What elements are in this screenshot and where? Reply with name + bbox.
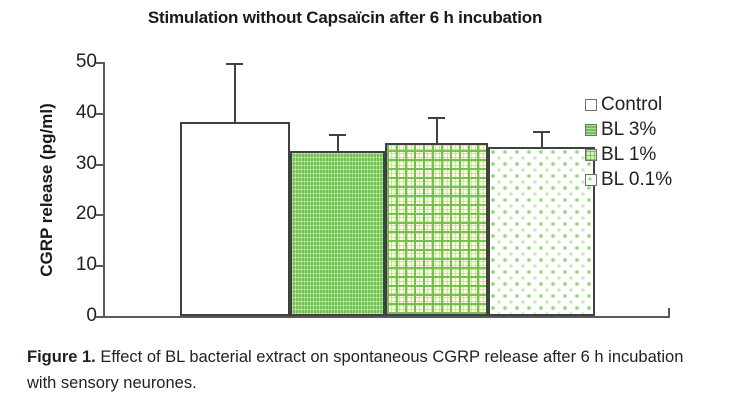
y-tick-label: 10 — [57, 254, 97, 276]
legend-item-bl-3: BL 3% — [585, 117, 745, 142]
y-tick-mark — [96, 316, 103, 318]
y-axis-line — [103, 62, 105, 318]
y-tick-label: 20 — [57, 203, 97, 225]
legend-swatch-icon — [585, 99, 597, 111]
bar-control — [180, 122, 290, 316]
y-tick-label: 30 — [57, 153, 97, 175]
legend-label: BL 3% — [601, 120, 656, 139]
legend-swatch-icon — [585, 149, 597, 161]
error-bar-cap — [428, 117, 445, 119]
legend: ControlBL 3%BL 1%BL 0.1% — [585, 92, 745, 192]
bar-bl-1 — [385, 143, 488, 316]
y-tick-label: 40 — [57, 102, 97, 124]
error-bar-cap — [226, 63, 243, 65]
legend-swatch-icon — [585, 174, 597, 186]
y-tick-mark — [96, 164, 103, 166]
y-tick-label: 0 — [57, 305, 97, 327]
error-bar-cap — [533, 131, 550, 133]
legend-item-bl-0-1: BL 0.1% — [585, 167, 745, 192]
error-bar-line — [436, 117, 438, 143]
legend-label: BL 0.1% — [601, 170, 672, 189]
y-tick-label: 50 — [57, 51, 97, 73]
figure-plot: CGRP release (pg/ml) 01020304050 Control… — [0, 0, 751, 335]
error-bar-cap — [329, 134, 346, 136]
error-bar-line — [234, 63, 236, 122]
y-tick-mark — [96, 113, 103, 115]
bar-bl-3 — [290, 151, 385, 316]
legend-label: BL 1% — [601, 145, 656, 164]
y-tick-mark — [96, 214, 103, 216]
y-axis-title: CGRP release (pg/ml) — [37, 50, 57, 330]
figure-caption: Figure 1. Effect of BL bacterial extract… — [27, 344, 695, 396]
caption-text: Effect of BL bacterial extract on sponta… — [27, 348, 683, 392]
legend-item-bl-1: BL 1% — [585, 142, 745, 167]
y-tick-mark — [96, 62, 103, 64]
legend-item-control: Control — [585, 92, 745, 117]
error-bar-line — [337, 134, 339, 151]
x-axis-line — [103, 316, 670, 318]
legend-swatch-icon — [585, 124, 597, 136]
error-bar-line — [541, 131, 543, 147]
x-axis-end-tick — [668, 308, 670, 318]
bar-bl-0-1 — [488, 147, 595, 316]
legend-label: Control — [601, 95, 662, 114]
figure-number: Figure 1. — [27, 348, 96, 366]
y-tick-mark — [96, 265, 103, 267]
